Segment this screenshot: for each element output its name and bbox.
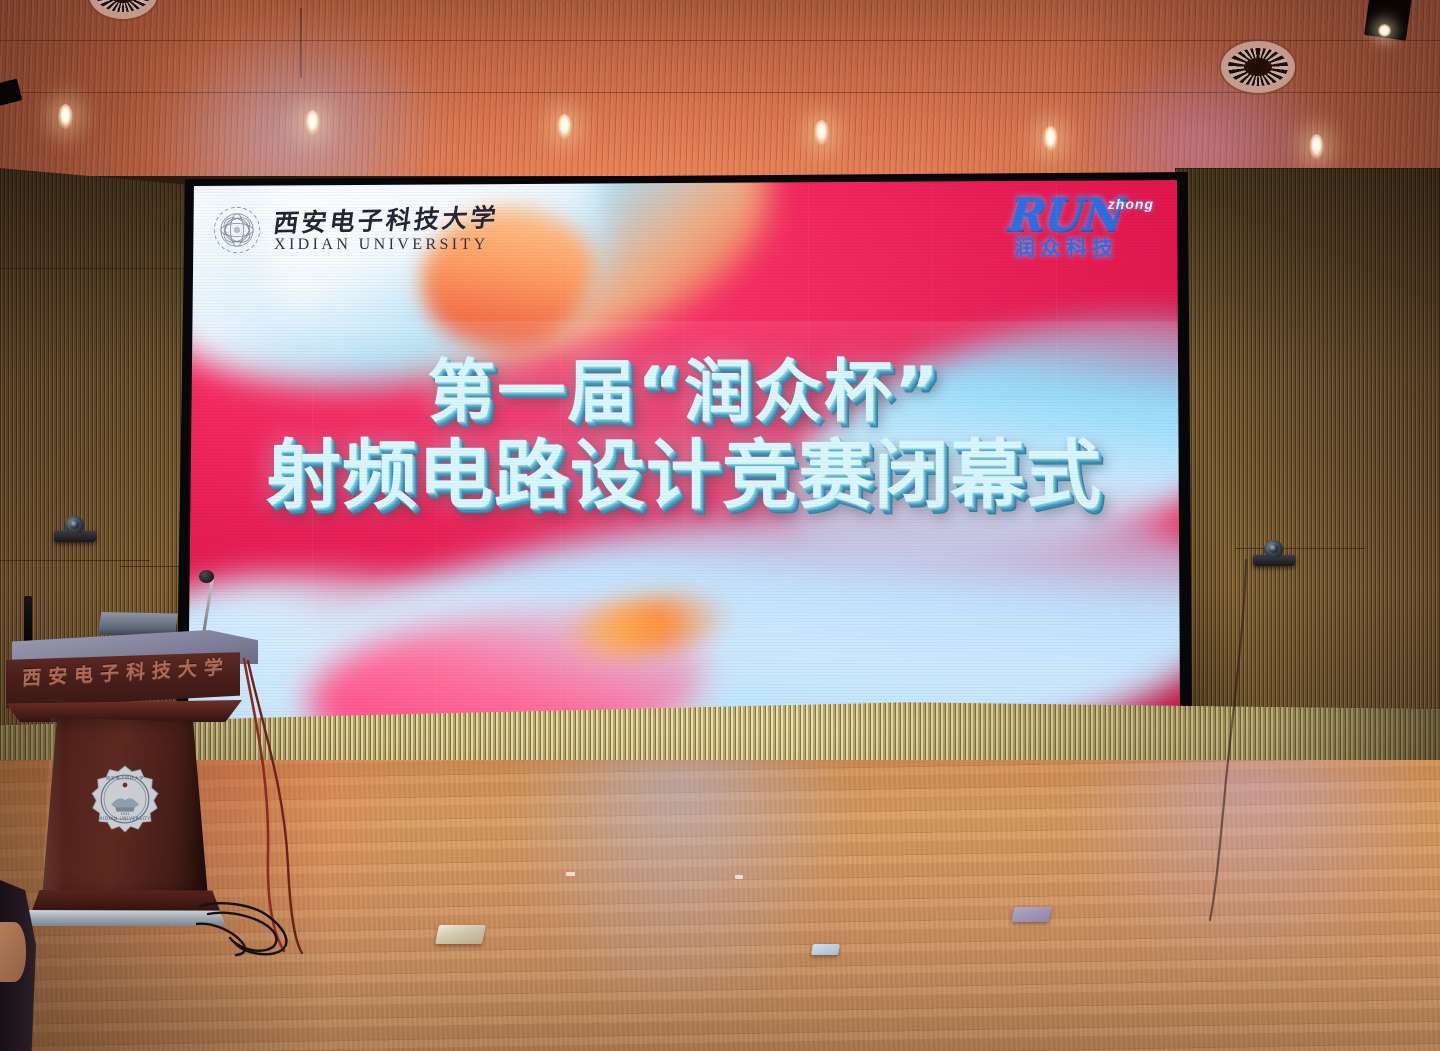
wall-seam (0, 560, 150, 561)
floor-speck (566, 872, 575, 876)
xidian-university-seal: XIDIAN UNIVERSITY 1931 西安电子科技大学 (90, 764, 160, 834)
downlight-icon (305, 110, 320, 135)
foreground-hand (0, 922, 26, 982)
lectern-front-band: 西安电子科技大学 (6, 652, 240, 708)
camera-lens-icon (1269, 544, 1278, 553)
wall-seam (120, 566, 180, 567)
ptz-camera (54, 516, 96, 542)
microphone-head-icon (199, 570, 214, 583)
microphone-connector (24, 596, 32, 642)
camera-lens-icon (70, 520, 79, 529)
confidence-monitor (98, 612, 178, 636)
downlight-icon (814, 120, 829, 145)
lectern-body-highlight (42, 718, 64, 898)
lectern-lip (6, 700, 242, 722)
downlight-icon (1043, 126, 1058, 151)
downlight-icon (58, 104, 73, 129)
floor-reflection-blue (520, 760, 840, 1000)
svg-text:XIDIAN UNIVERSITY: XIDIAN UNIVERSITY (99, 816, 150, 822)
lectern-engraved-text: 西安电子科技大学 (22, 658, 223, 688)
wall-seam (1175, 168, 1440, 169)
auditorium-stage-photo: 西安电子科技大学 XIDIAN UNIVERSITY RUN zhong 润众科… (0, 0, 1440, 1051)
floor-speck (735, 875, 743, 879)
svg-text:1931: 1931 (121, 812, 130, 816)
floor-outlet-cover (435, 925, 486, 944)
downlight-icon (1309, 134, 1324, 159)
ceiling-purple-glow (1080, 60, 1330, 176)
ceiling-vent-icon (1228, 48, 1288, 86)
floor-outlet-cover (811, 944, 840, 955)
cable-coil (196, 900, 316, 958)
wall-seam (0, 268, 200, 269)
floor-cable-right (1020, 560, 1260, 940)
spotlight-icon (1378, 24, 1391, 37)
downlight-icon (557, 114, 572, 139)
lectern: 西安电子科技大学 XIDIAN UNIVERSITY 1931 西安电子科技大学 (6, 612, 258, 942)
ceiling (0, 0, 1440, 176)
svg-text:西安电子科技大学: 西安电子科技大学 (106, 774, 144, 781)
lectern-foot-plate (18, 910, 226, 926)
